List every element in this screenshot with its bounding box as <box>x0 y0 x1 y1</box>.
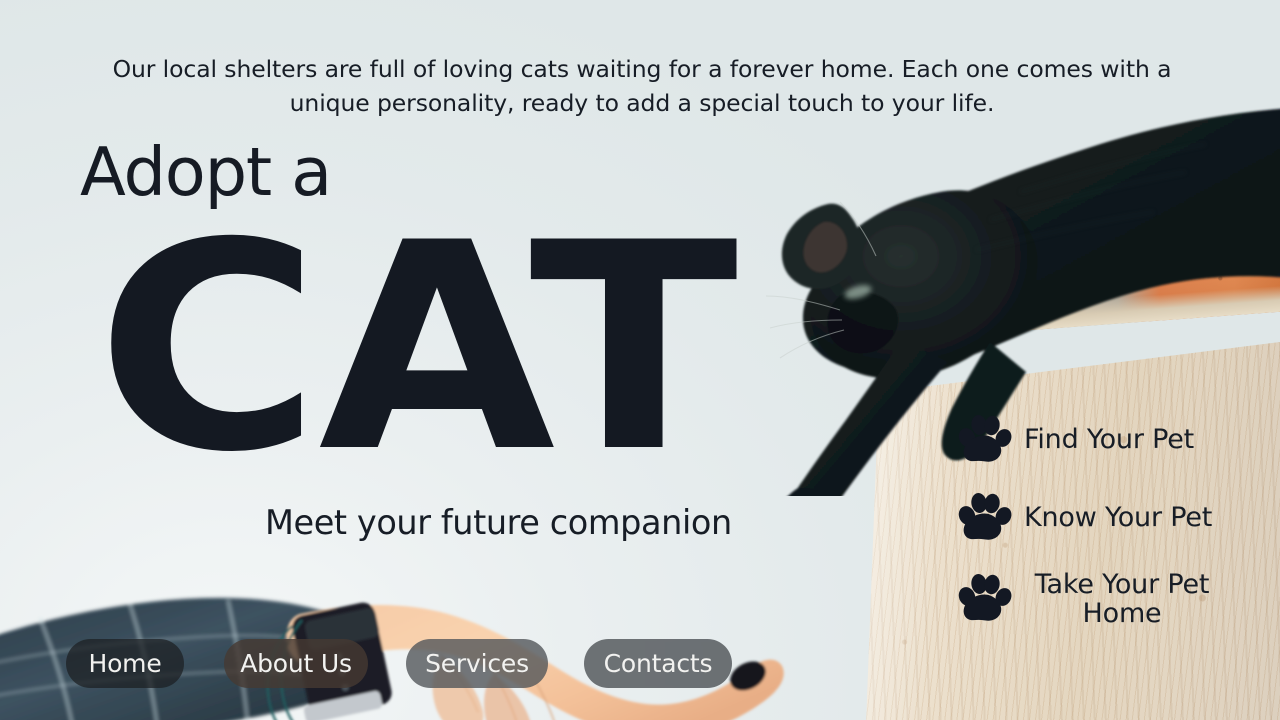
intro-paragraph: Our local shelters are full of loving ca… <box>90 52 1194 120</box>
paw-icon <box>956 492 1012 544</box>
feature-label: Know Your Pet <box>1024 503 1212 532</box>
paw-icon <box>956 414 1012 466</box>
feature-item-take[interactable]: Take Your Pet Home <box>956 570 1272 628</box>
tagline: Meet your future companion <box>265 506 732 540</box>
feature-label: Take Your Pet Home <box>1024 570 1220 628</box>
feature-label: Find Your Pet <box>1024 425 1194 454</box>
paw-icon <box>956 573 1012 625</box>
feature-item-find[interactable]: Find Your Pet <box>956 414 1272 466</box>
main-navigation: Home About Us Services Contacts <box>66 639 732 688</box>
feature-list: Find Your Pet Know Your Pet <box>956 414 1272 628</box>
nav-item-home[interactable]: Home <box>66 639 184 688</box>
nav-item-services[interactable]: Services <box>406 639 548 688</box>
page-title: CAT <box>96 206 736 492</box>
feature-item-know[interactable]: Know Your Pet <box>956 492 1272 544</box>
nav-item-about-us[interactable]: About Us <box>224 639 368 688</box>
hero-poster: Our local shelters are full of loving ca… <box>0 0 1280 720</box>
nav-item-contacts[interactable]: Contacts <box>584 639 732 688</box>
